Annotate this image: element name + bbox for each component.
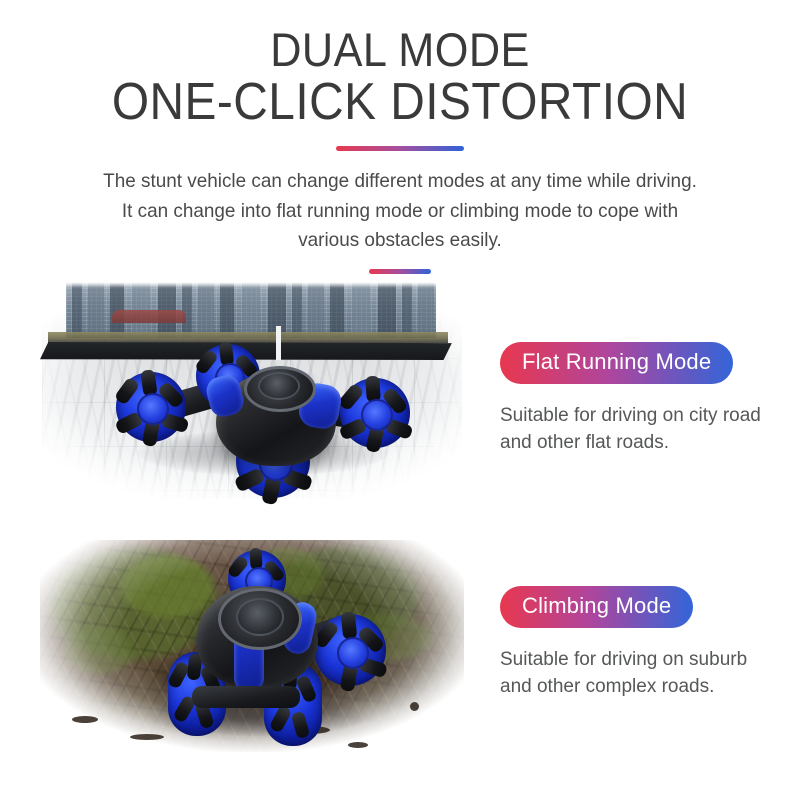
vehicle-turret-inner: [258, 372, 300, 400]
wheel-roller: [341, 611, 358, 639]
wheel-hub: [337, 637, 369, 669]
wheel-roller: [114, 376, 141, 405]
page-title: DUAL MODE ONE-CLICK DISTORTION: [32, 26, 768, 129]
vehicle-wheel-rear-left: [116, 372, 186, 442]
red-bridge: [112, 310, 186, 323]
wheel-roller: [291, 711, 311, 740]
feature-text-flat-running: Flat Running Mode Suitable for driving o…: [500, 342, 790, 457]
vehicle-wheel-rear-right: [340, 378, 410, 448]
wheel-hub: [137, 393, 169, 425]
product-feature-page: DUAL MODE ONE-CLICK DISTORTION The stunt…: [0, 0, 800, 800]
paint-splatter: [410, 702, 419, 711]
vehicle-turret-inner: [236, 598, 284, 636]
wheel-hub: [361, 399, 393, 431]
paint-splatter: [348, 742, 368, 748]
photo-climbing: [18, 520, 488, 795]
subcopy-line-3: various obstacles easily.: [61, 226, 740, 256]
feature-text-climbing: Climbing Mode Suitable for driving on su…: [500, 586, 790, 701]
skyline-buildings: [66, 280, 436, 338]
badge-climbing-mode[interactable]: Climbing Mode: [500, 586, 693, 628]
header-section: DUAL MODE ONE-CLICK DISTORTION The stunt…: [0, 26, 800, 274]
photo-flat-running: [18, 262, 488, 520]
subcopy-line-2: It can change into flat running mode or …: [61, 197, 740, 227]
city-skyline: [66, 280, 436, 338]
hedge-band: [48, 332, 448, 343]
vehicle-flat-mode: [104, 350, 424, 490]
description-climbing: Suitable for driving on suburb and other…: [500, 647, 768, 701]
headline-line-2: ONE-CLICK DISTORTION: [32, 76, 768, 129]
headline-line-1: DUAL MODE: [32, 26, 768, 74]
vehicle-climbing-mode: [136, 558, 396, 738]
subcopy-line-1: The stunt vehicle can change different m…: [61, 167, 740, 197]
vehicle-wheel-right: [314, 614, 386, 686]
wheel-roller: [269, 704, 293, 733]
badge-flat-running-mode[interactable]: Flat Running Mode: [500, 342, 733, 384]
gradient-divider-top: [336, 146, 464, 151]
vehicle-chassis-bar: [192, 686, 300, 708]
wheel-roller: [337, 383, 364, 412]
feature-row-flat-running: Flat Running Mode Suitable for driving o…: [0, 262, 800, 520]
feature-row-climbing: Climbing Mode Suitable for driving on su…: [0, 520, 800, 795]
description-flat-running: Suitable for driving on city road and ot…: [500, 403, 768, 457]
paint-splatter: [72, 716, 98, 723]
subcopy-paragraph: The stunt vehicle can change different m…: [61, 167, 740, 256]
